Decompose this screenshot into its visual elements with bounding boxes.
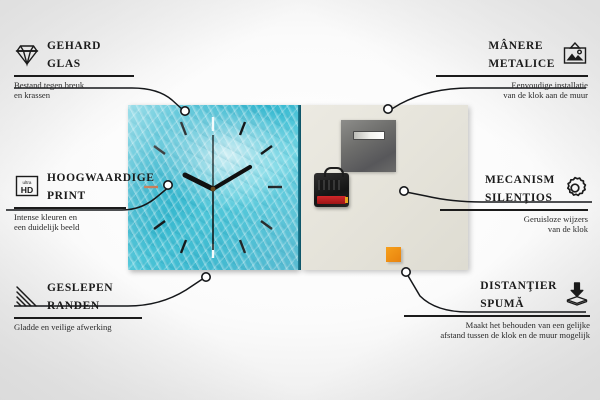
feature-title: HOOGWAARDIGE PRINT [47, 168, 155, 204]
feature-rule [440, 209, 588, 211]
feature-rule [14, 75, 134, 77]
svg-text:HD: HD [21, 185, 33, 195]
feature-geslepen-randen[interactable]: GESLEPEN RANDEN Gladde en veilige afwerk… [14, 278, 194, 332]
feature-subtitle-line2: afstand tussen de klok en de muur mogeli… [390, 330, 590, 341]
battery [317, 196, 346, 204]
feature-heading: DISTANŢIER SPUMĂ [390, 276, 590, 312]
feature-title: MÂNERE METALICE [488, 36, 555, 72]
feature-gehard-glas[interactable]: GEHARD GLAS Bestand tegen breuk en krass… [14, 36, 174, 101]
feature-title: DISTANŢIER SPUMĂ [480, 276, 557, 312]
mechanism-housing-detail [318, 180, 340, 190]
feature-hoogwaardige-print[interactable]: ultra HD HOOGWAARDIGE PRINT Intense kleu… [14, 168, 189, 233]
feature-distantier-spuma[interactable]: DISTANŢIER SPUMĂ Maakt het behouden van … [390, 276, 590, 341]
infographic-canvas: GEHARD GLAS Bestand tegen breuk en krass… [0, 0, 600, 400]
metal-hanger-plate [341, 120, 396, 172]
ultra-hd-icon: ultra HD [14, 173, 40, 199]
hanger-slot [353, 131, 385, 140]
arrow-down-onto-layer-icon [564, 281, 590, 307]
feature-subtitle-line2: en krassen [14, 90, 174, 101]
feature-title: GEHARD GLAS [47, 36, 101, 72]
feature-heading: GEHARD GLAS [14, 36, 174, 72]
feature-rule [14, 317, 142, 319]
feature-manere-metalice[interactable]: MÂNERE METALICE Eenvoudige installatie v… [418, 36, 588, 101]
mechanism-hanging-loop [324, 167, 344, 177]
hanging-picture-frame-icon [562, 41, 588, 67]
feature-subtitle-line1: Intense kleuren en [14, 212, 189, 223]
feature-heading: MECANISM SILENŢIOS [423, 170, 588, 206]
feature-title: MECANISM SILENŢIOS [485, 170, 555, 206]
feature-rule [14, 207, 126, 209]
feature-heading: MÂNERE METALICE [418, 36, 588, 72]
polished-edges-icon [14, 283, 40, 309]
feature-subtitle-line2: van de klok aan de muur [418, 90, 588, 101]
feature-title: GESLEPEN RANDEN [47, 278, 113, 314]
silent-clock-mechanism [314, 173, 349, 207]
feature-mecanism-silentios[interactable]: MECANISM SILENŢIOS Geruisloze wijzers va… [423, 170, 588, 235]
foam-spacer [386, 247, 401, 262]
feature-heading: GESLEPEN RANDEN [14, 278, 194, 314]
feature-subtitle-line2: van de klok [423, 224, 588, 235]
feature-rule [404, 315, 590, 317]
gear-icon [562, 175, 588, 201]
diamond-icon [14, 41, 40, 67]
feature-subtitle-line1: Bestand tegen breuk [14, 80, 174, 91]
feature-subtitle-line1: Maakt het behouden van een gelijke [390, 320, 590, 331]
feature-subtitle-line1: Gladde en veilige afwerking [14, 322, 194, 333]
feature-subtitle-line1: Geruisloze wijzers [423, 214, 588, 225]
feature-subtitle-line1: Eenvoudige installatie [418, 80, 588, 91]
feature-heading: ultra HD HOOGWAARDIGE PRINT [14, 168, 189, 204]
feature-rule [436, 75, 588, 77]
feature-subtitle-line2: een duidelijk beeld [14, 222, 189, 233]
